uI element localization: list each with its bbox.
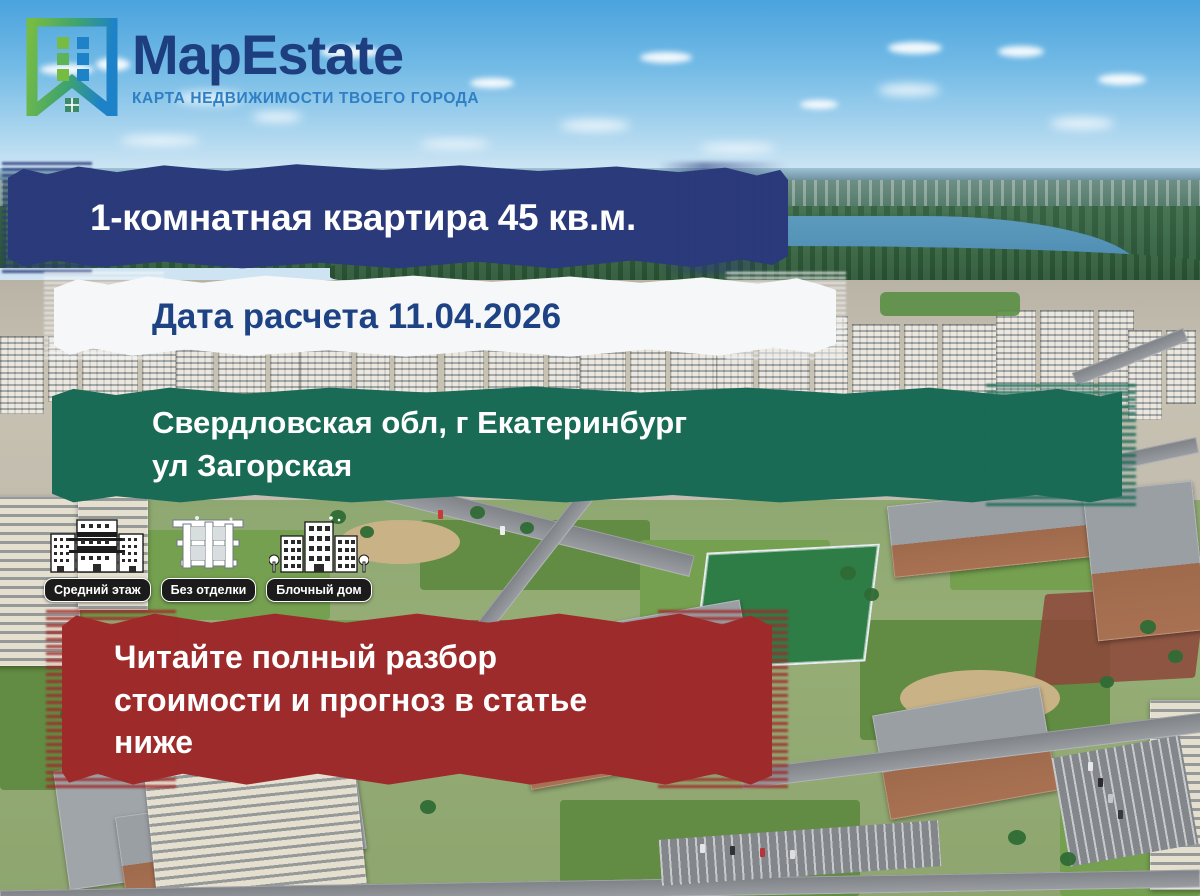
- badge-no-finishing[interactable]: Без отделки: [161, 516, 257, 602]
- brand-title: MapEstate: [132, 27, 479, 83]
- bare-shell-frame-icon: [167, 516, 249, 574]
- badge-label: Без отделки: [161, 578, 257, 602]
- cta-line-3: ниже: [114, 721, 587, 764]
- block-house-icon: [269, 516, 369, 574]
- cta-line-2: стоимости и прогноз в статье: [114, 679, 587, 722]
- mid-floor-building-icon: [49, 516, 145, 574]
- brand-tagline: КАРТА НЕДВИЖИМОСТИ ТВОЕГО ГОРОДА: [132, 90, 479, 108]
- calc-date-band-right-streaks: [726, 272, 846, 362]
- cta-band[interactable]: Читайте полный разбор стоимости и прогно…: [62, 610, 772, 790]
- feature-badges: Средний этаж: [44, 516, 372, 602]
- bookmark-building-icon: [26, 18, 118, 116]
- badge-mid-floor[interactable]: Средний этаж: [44, 516, 151, 602]
- badge-label: Блочный дом: [266, 578, 371, 602]
- calc-date-band: Дата расчета 11.04.2026: [54, 272, 836, 362]
- badge-label: Средний этаж: [44, 578, 151, 602]
- badge-block-house[interactable]: Блочный дом: [266, 516, 371, 602]
- cta-line-1: Читайте полный разбор: [114, 636, 587, 679]
- brand-logo[interactable]: MapEstate КАРТА НЕДВИЖИМОСТИ ТВОЕГО ГОРО…: [26, 18, 479, 116]
- address-line-1: Свердловская обл, г Екатеринбург: [152, 402, 687, 445]
- poster-canvas: MapEstate КАРТА НЕДВИЖИМОСТИ ТВОЕГО ГОРО…: [0, 0, 1200, 896]
- calc-date-band-left-streaks: [44, 272, 164, 362]
- brand-logo-text: MapEstate КАРТА НЕДВИЖИМОСТИ ТВОЕГО ГОРО…: [132, 27, 479, 108]
- property-type-band-left-streaks: [2, 162, 92, 274]
- property-type-band: 1-комнатная квартира 45 кв.м.: [8, 162, 788, 274]
- property-type-band-right-fade: [658, 162, 788, 274]
- cta-band-right-streaks: [658, 610, 788, 790]
- calc-date-text: Дата расчета 11.04.2026: [152, 297, 561, 337]
- address-line-2: ул Загорская: [152, 445, 687, 488]
- address-band: Свердловская обл, г Екатеринбург ул Заго…: [52, 384, 1122, 506]
- address-band-right-streaks: [986, 384, 1136, 506]
- property-type-text: 1-комнатная квартира 45 кв.м.: [90, 197, 636, 239]
- cta-text: Читайте полный разбор стоимости и прогно…: [114, 636, 587, 764]
- address-text: Свердловская обл, г Екатеринбург ул Заго…: [152, 402, 687, 488]
